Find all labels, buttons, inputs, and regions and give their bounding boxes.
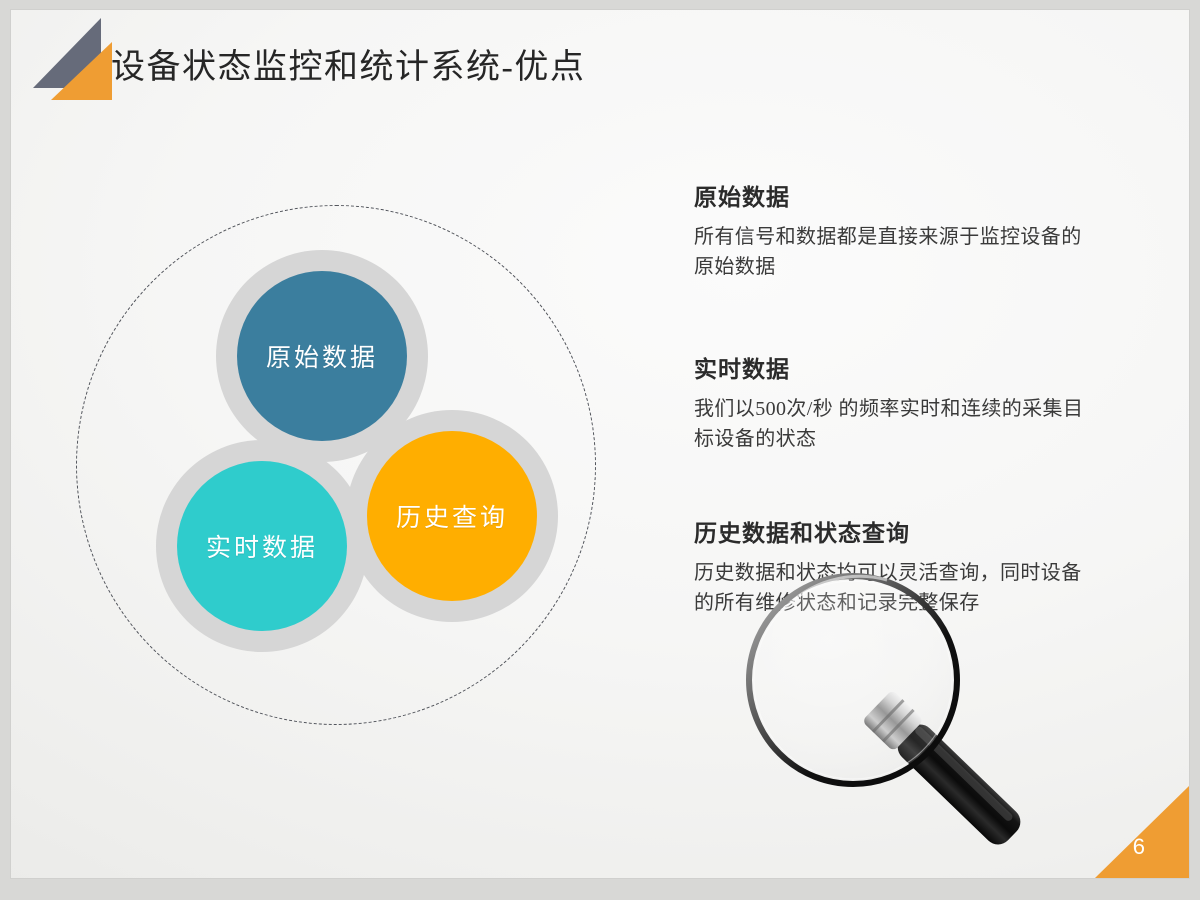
feature-text-column: 原始数据 所有信号和数据都是直接来源于监控设备的原始数据 实时数据 我们以500…: [694, 178, 1094, 619]
page-number: 6: [1133, 834, 1145, 860]
feature-body-raw-data: 所有信号和数据都是直接来源于监控设备的原始数据: [694, 223, 1094, 282]
bubble-history-query-label: 历史查询: [367, 431, 537, 601]
magnifier-ferrule: [862, 689, 924, 751]
bubble-history-query[interactable]: 历史查询: [346, 410, 558, 622]
feature-heading-realtime-data: 实时数据: [694, 350, 1094, 384]
bubble-raw-data-label: 原始数据: [237, 271, 407, 441]
magnifier-handle: [892, 719, 1026, 851]
feature-heading-history-query: 历史数据和状态查询: [694, 514, 1094, 548]
slide: 设备状态监控和统计系统-优点 原始数据 实时数据 历史查询 原始数据 所有信号和…: [0, 0, 1200, 900]
slide-canvas: 设备状态监控和统计系统-优点 原始数据 实时数据 历史查询 原始数据 所有信号和…: [11, 10, 1189, 878]
bubble-diagram: 原始数据 实时数据 历史查询: [66, 195, 646, 775]
feature-block-history-query: 历史数据和状态查询 历史数据和状态均可以灵活查询，同时设备的所有维修状态和记录完…: [694, 514, 1094, 618]
feature-heading-raw-data: 原始数据: [694, 178, 1094, 212]
feature-block-raw-data: 原始数据 所有信号和数据都是直接来源于监控设备的原始数据: [694, 178, 1094, 282]
bubble-realtime-data[interactable]: 实时数据: [156, 440, 368, 652]
corner-gray-underlay: [1029, 778, 1189, 878]
page-title: 设备状态监控和统计系统-优点: [111, 39, 585, 88]
bubble-realtime-data-label: 实时数据: [177, 461, 347, 631]
feature-body-history-query: 历史数据和状态均可以灵活查询，同时设备的所有维修状态和记录完整保存: [694, 559, 1094, 618]
feature-block-realtime-data: 实时数据 我们以500次/秒 的频率实时和连续的采集目标设备的状态: [694, 350, 1094, 454]
feature-body-realtime-data: 我们以500次/秒 的频率实时和连续的采集目标设备的状态: [694, 395, 1094, 454]
orange-corner-triangle-icon: [1095, 786, 1189, 878]
slide-header: 设备状态监控和统计系统-优点: [11, 10, 1189, 106]
